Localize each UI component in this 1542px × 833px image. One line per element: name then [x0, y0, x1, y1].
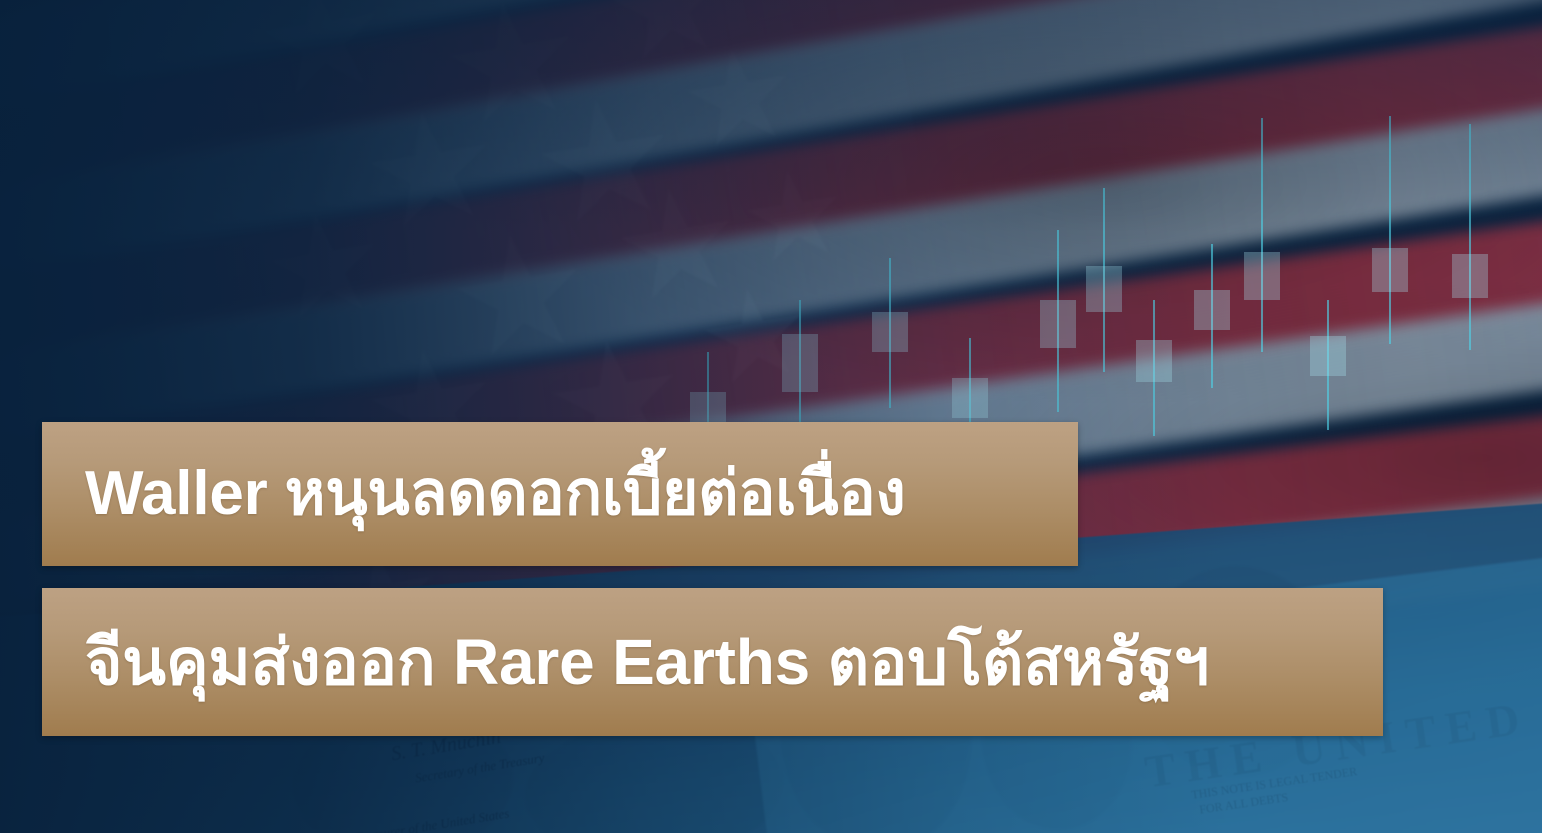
headline-text-1: Waller หนุนลดดอกเบี้ยต่อเนื่อง	[85, 463, 906, 525]
headline-banner-2: จีนคุมส่งออก Rare Earths ตอบโต้สหรัฐฯ	[42, 588, 1383, 736]
headline-banner-1: Waller หนุนลดดอกเบี้ยต่อเนื่อง	[42, 422, 1078, 566]
headline-text-2: จีนคุมส่งออก Rare Earths ตอบโต้สหรัฐฯ	[85, 630, 1209, 694]
thumbnail-canvas: S. T. MnuchinSecretary of the TreasuryTr…	[0, 0, 1542, 833]
